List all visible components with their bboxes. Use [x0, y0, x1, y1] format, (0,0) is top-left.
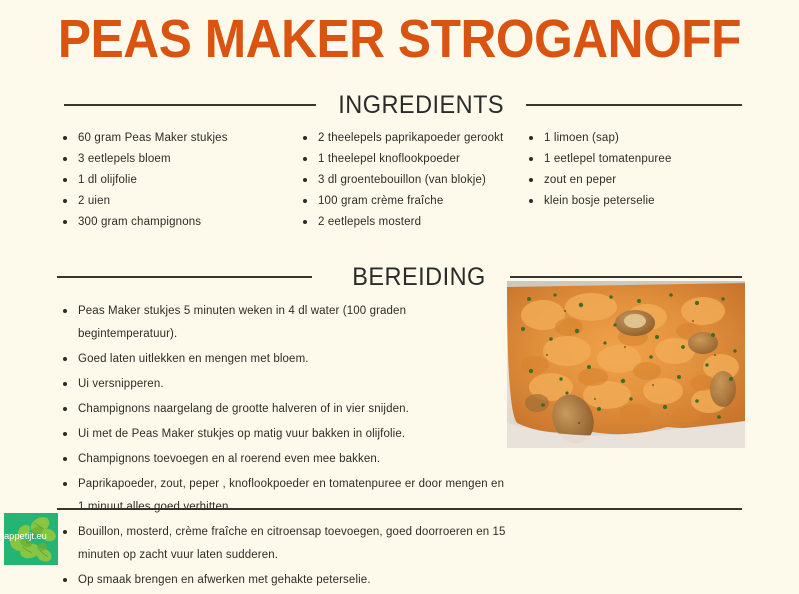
- logo-text: appetijt.eu: [4, 531, 58, 542]
- list-item: 100 gram crème fraîche: [298, 191, 524, 212]
- list-item: 2 uien: [58, 191, 298, 212]
- ingredients-list: 60 gram Peas Maker stukjes 3 eetlepels b…: [58, 128, 758, 233]
- list-item: 300 gram champignons: [58, 212, 298, 233]
- ingredients-section-heading: INGREDIENTS: [64, 90, 742, 120]
- dish-photo: [507, 281, 745, 448]
- divider-right: [526, 104, 742, 106]
- step-items: Peas Maker stukjes 5 minuten weken in 4 …: [58, 300, 506, 592]
- ingredients-column-2: 2 theelepels paprikapoeder gerookt 1 the…: [298, 128, 524, 233]
- divider-left: [57, 276, 312, 278]
- page-title: PEAS MAKER STROGANOFF: [32, 8, 767, 70]
- list-item: 3 eetlepels bloem: [58, 149, 298, 170]
- list-item: 1 theelepel knoflookpoeder: [298, 149, 524, 170]
- list-item: zout en peper: [524, 170, 744, 191]
- list-item: Ui versnipperen.: [58, 373, 506, 396]
- bereiding-steps: Peas Maker stukjes 5 minuten weken in 4 …: [58, 300, 506, 594]
- list-item: Ui met de Peas Maker stukjes op matig vu…: [58, 423, 506, 446]
- list-item: Bouillon, mosterd, crème fraîche en citr…: [58, 521, 506, 567]
- site-logo[interactable]: appetijt.eu: [4, 513, 58, 565]
- bereiding-label: BEREIDING: [352, 262, 486, 292]
- divider-left: [64, 104, 316, 106]
- list-item: 1 dl olijfolie: [58, 170, 298, 191]
- recipe-card: PEAS MAKER STROGANOFF INGREDIENTS 60 gra…: [0, 0, 799, 567]
- list-item: Champignons naargelang de grootte halver…: [58, 398, 506, 421]
- ingredients-label: INGREDIENTS: [338, 90, 504, 120]
- footer-divider: [57, 508, 742, 510]
- ingredients-column-1: 60 gram Peas Maker stukjes 3 eetlepels b…: [58, 128, 298, 233]
- list-item: 2 theelepels paprikapoeder gerookt: [298, 128, 524, 149]
- list-item: klein bosje peterselie: [524, 191, 744, 212]
- list-item: 2 eetlepels mosterd: [298, 212, 524, 233]
- divider-right: [510, 276, 742, 278]
- ingredient-items-1: 60 gram Peas Maker stukjes 3 eetlepels b…: [58, 128, 298, 233]
- ingredients-column-3: 1 limoen (sap) 1 eetlepel tomatenpuree z…: [524, 128, 744, 212]
- list-item: Champignons toevoegen en al roerend even…: [58, 448, 506, 471]
- ingredient-items-2: 2 theelepels paprikapoeder gerookt 1 the…: [298, 128, 524, 233]
- list-item: 60 gram Peas Maker stukjes: [58, 128, 298, 149]
- list-item: Paprikapoeder, zout, peper , knoflookpoe…: [58, 473, 506, 519]
- list-item: Peas Maker stukjes 5 minuten weken in 4 …: [58, 300, 506, 346]
- ingredient-items-3: 1 limoen (sap) 1 eetlepel tomatenpuree z…: [524, 128, 744, 212]
- list-item: Goed laten uitlekken en mengen met bloem…: [58, 348, 506, 371]
- list-item: 1 limoen (sap): [524, 128, 744, 149]
- list-item: 1 eetlepel tomatenpuree: [524, 149, 744, 170]
- list-item: Op smaak brengen en afwerken met gehakte…: [58, 569, 506, 592]
- list-item: 3 dl groentebouillon (van blokje): [298, 170, 524, 191]
